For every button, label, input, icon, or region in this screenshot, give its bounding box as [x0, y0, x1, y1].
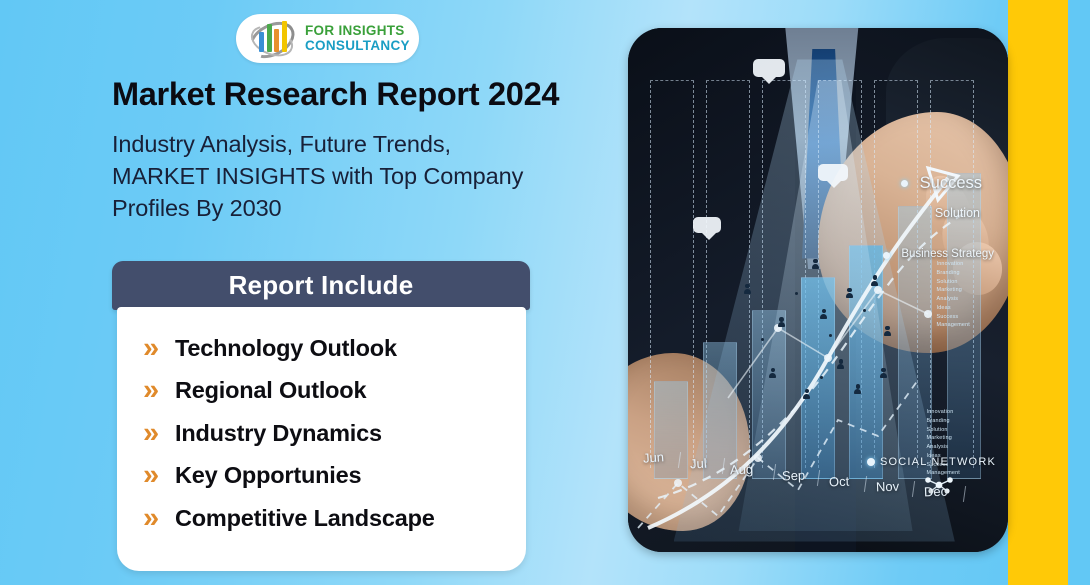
list-item[interactable]: » Regional Outlook [143, 370, 526, 413]
hero-photo: Success Solution Business Strategy Innov… [628, 28, 1008, 552]
double-chevron-right-icon: » [143, 419, 175, 448]
logo-chart-orbit-icon [246, 18, 298, 60]
double-chevron-right-icon: » [143, 334, 175, 363]
speech-bubble-icon [818, 164, 848, 181]
list-item[interactable]: » Key Opportunies [143, 455, 526, 498]
list-item-label: Technology Outlook [175, 335, 397, 362]
report-include-label: Report Include [229, 270, 414, 301]
accent-band-yellow [1008, 0, 1068, 585]
list-item[interactable]: » Competitive Landscape [143, 497, 526, 540]
axis-tick-label: Nov [876, 479, 900, 495]
list-item-label: Industry Dynamics [175, 420, 382, 447]
list-item-label: Regional Outlook [175, 377, 366, 404]
axis-tick-label: Sep [781, 468, 805, 484]
label-business-strategy: Business Strategy [901, 248, 994, 260]
axis-tick-label: Dec [924, 484, 948, 500]
page-subtitle: Industry Analysis, Future Trends, MARKET… [112, 128, 632, 225]
brand-logo[interactable]: FOR INSIGHTS CONSULTANCY [236, 14, 419, 63]
axis-tick-label: Oct [829, 474, 850, 490]
logo-bars [259, 21, 287, 52]
axis-tick-label: Jun [642, 449, 664, 465]
speech-bubble-icon [753, 59, 785, 77]
subtitle-line-3: Profiles By 2030 [112, 192, 632, 224]
accent-band-blue [1068, 0, 1090, 585]
world-map-network [727, 238, 940, 448]
report-include-card: » Technology Outlook » Regional Outlook … [117, 307, 526, 571]
keyword-micro-list: Innovation Branding Solution Marketing A… [937, 260, 970, 330]
logo-wordmark: FOR INSIGHTS CONSULTANCY [305, 24, 410, 52]
report-include-header: Report Include [112, 261, 530, 310]
double-chevron-right-icon: » [143, 504, 175, 533]
label-success: Success [920, 174, 982, 193]
subtitle-line-2: MARKET INSIGHTS with Top Company [112, 160, 632, 192]
label-solution: Solution [935, 206, 980, 220]
axis-tick-label: Jul [690, 456, 707, 472]
left-content-column: FOR INSIGHTS CONSULTANCY Market Research… [0, 0, 630, 585]
list-item-label: Key Opportunies [175, 462, 361, 489]
list-item[interactable]: » Technology Outlook [143, 327, 526, 370]
list-item-label: Competitive Landscape [175, 505, 435, 532]
node-dot [901, 180, 908, 187]
logo-line-1: FOR INSIGHTS [305, 24, 410, 38]
page-title: Market Research Report 2024 [112, 76, 632, 113]
axis-tick-label: Aug [730, 462, 754, 478]
double-chevron-right-icon: » [143, 376, 175, 405]
list-item[interactable]: » Industry Dynamics [143, 412, 526, 455]
speech-bubble-icon [693, 217, 721, 233]
month-axis: Jun Jul Aug Sep Oct Nov Dec [636, 450, 1001, 508]
node-dot [883, 252, 890, 259]
subtitle-line-1: Industry Analysis, Future Trends, [112, 128, 632, 160]
double-chevron-right-icon: » [143, 461, 175, 490]
logo-line-2: CONSULTANCY [305, 39, 410, 53]
